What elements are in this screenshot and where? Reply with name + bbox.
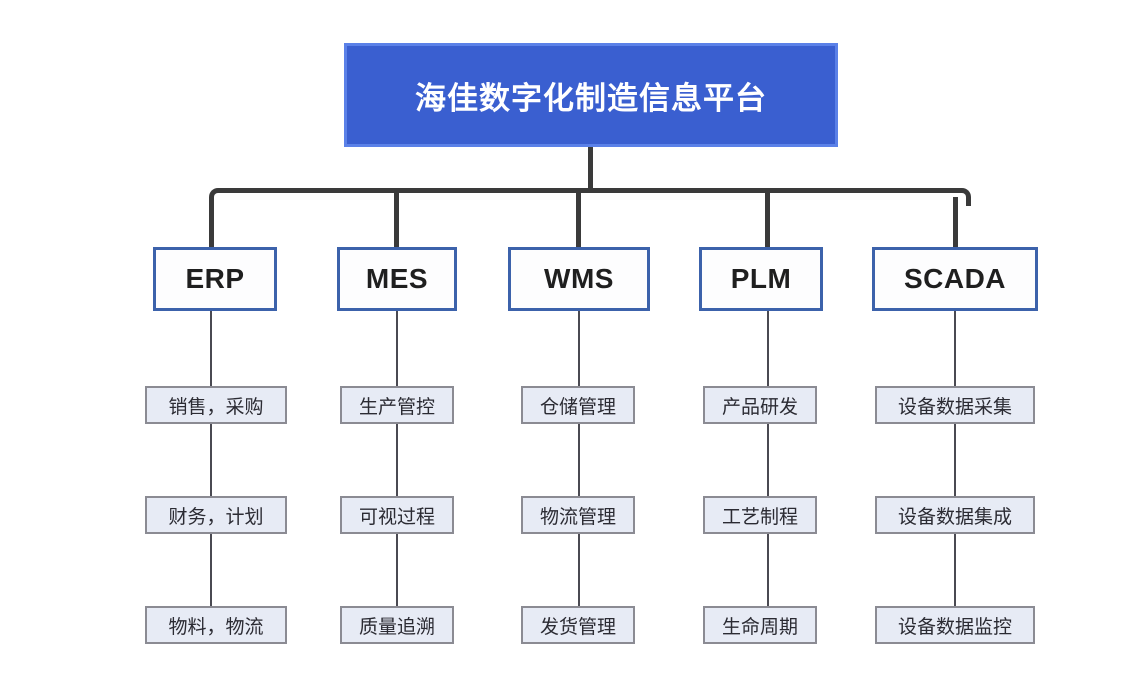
leaf-box-wms-3-label: 发货管理 [540, 612, 616, 639]
system-box-plm[interactable]: PLM [699, 247, 823, 311]
connector-erp-leaf-2-to-3 [210, 534, 212, 606]
connector-mes-to-leaf-1 [396, 311, 398, 386]
leaf-box-scada-2-label: 设备数据集成 [898, 502, 1012, 529]
connector-wms-leaf-1-to-2 [578, 424, 580, 496]
system-box-wms-label: WMS [544, 263, 614, 295]
leaf-box-plm-1[interactable]: 产品研发 [703, 386, 817, 424]
leaf-box-plm-1-label: 产品研发 [722, 392, 798, 419]
connector-mes-leaf-2-to-3 [396, 534, 398, 606]
leaf-box-wms-1[interactable]: 仓储管理 [521, 386, 635, 424]
connector-drop-scada [953, 197, 958, 249]
leaf-box-scada-2[interactable]: 设备数据集成 [875, 496, 1035, 534]
leaf-box-plm-2-label: 工艺制程 [722, 502, 798, 529]
leaf-box-plm-2[interactable]: 工艺制程 [703, 496, 817, 534]
connector-drop-wms [576, 188, 581, 249]
leaf-box-scada-3[interactable]: 设备数据监控 [875, 606, 1035, 644]
system-box-wms[interactable]: WMS [508, 247, 650, 311]
leaf-box-wms-2[interactable]: 物流管理 [521, 496, 635, 534]
leaf-box-erp-1-label: 销售，采购 [168, 392, 263, 419]
system-box-erp[interactable]: ERP [153, 247, 277, 311]
connector-wms-leaf-2-to-3 [578, 534, 580, 606]
root-node-platform[interactable]: 海佳数字化制造信息平台 [344, 43, 838, 147]
system-box-plm-label: PLM [731, 263, 792, 295]
leaf-box-erp-1[interactable]: 销售，采购 [145, 386, 287, 424]
connector-scada-leaf-2-to-3 [954, 534, 956, 606]
connector-drop-erp [209, 197, 214, 249]
leaf-box-wms-3[interactable]: 发货管理 [521, 606, 635, 644]
system-box-mes-label: MES [366, 263, 428, 295]
connector-erp-to-leaf-1 [210, 311, 212, 386]
leaf-box-wms-2-label: 物流管理 [540, 502, 616, 529]
connector-wms-to-leaf-1 [578, 311, 580, 386]
connector-mes-leaf-1-to-2 [396, 424, 398, 496]
leaf-box-wms-1-label: 仓储管理 [540, 392, 616, 419]
leaf-box-scada-3-label: 设备数据监控 [898, 612, 1012, 639]
connector-root-stem [588, 147, 593, 191]
connector-drop-plm [765, 188, 770, 249]
leaf-box-erp-3[interactable]: 物料，物流 [145, 606, 287, 644]
leaf-box-mes-3[interactable]: 质量追溯 [340, 606, 454, 644]
connector-scada-to-leaf-1 [954, 311, 956, 386]
leaf-box-erp-2-label: 财务，计划 [168, 502, 263, 529]
leaf-box-mes-2-label: 可视过程 [359, 502, 435, 529]
connector-horizontal-bus [218, 188, 962, 193]
root-node-label: 海佳数字化制造信息平台 [415, 73, 767, 118]
leaf-box-mes-2[interactable]: 可视过程 [340, 496, 454, 534]
connector-scada-leaf-1-to-2 [954, 424, 956, 496]
leaf-box-mes-3-label: 质量追溯 [359, 612, 435, 639]
connector-plm-leaf-2-to-3 [767, 534, 769, 606]
leaf-box-erp-3-label: 物料，物流 [168, 612, 263, 639]
diagram-canvas: 海佳数字化制造信息平台 ERP 销售，采购 财务，计划 物料，物流 MES 生产… [0, 0, 1142, 680]
system-box-erp-label: ERP [185, 263, 244, 295]
connector-plm-leaf-1-to-2 [767, 424, 769, 496]
leaf-box-mes-1[interactable]: 生产管控 [340, 386, 454, 424]
leaf-box-plm-3-label: 生命周期 [722, 612, 798, 639]
system-box-scada-label: SCADA [904, 263, 1006, 295]
leaf-box-scada-1-label: 设备数据采集 [898, 392, 1012, 419]
system-box-scada[interactable]: SCADA [872, 247, 1038, 311]
leaf-box-mes-1-label: 生产管控 [359, 392, 435, 419]
leaf-box-erp-2[interactable]: 财务，计划 [145, 496, 287, 534]
connector-drop-mes [394, 188, 399, 249]
leaf-box-scada-1[interactable]: 设备数据采集 [875, 386, 1035, 424]
connector-plm-to-leaf-1 [767, 311, 769, 386]
connector-erp-leaf-1-to-2 [210, 424, 212, 496]
system-box-mes[interactable]: MES [337, 247, 457, 311]
leaf-box-plm-3[interactable]: 生命周期 [703, 606, 817, 644]
